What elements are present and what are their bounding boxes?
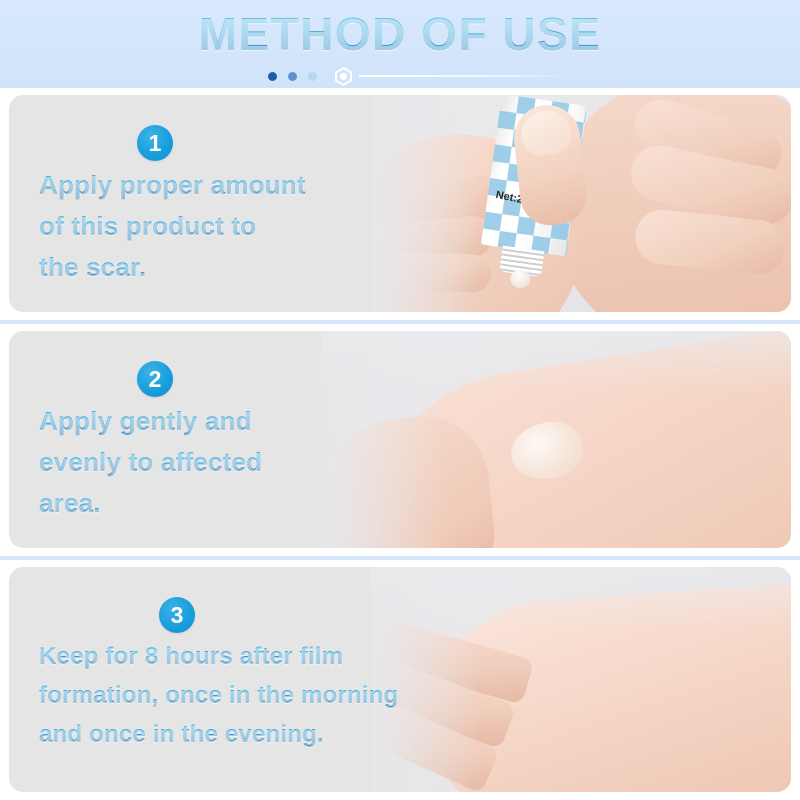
step-1-image: Net:20g	[371, 95, 791, 312]
step-3-text-block: 3 Keep for 8 hours after film formation,…	[39, 597, 398, 750]
step-3-line-3: and once in the evening.	[39, 719, 398, 750]
progress-dot-dark	[268, 72, 277, 81]
step-2-line-2: evenly to affected	[39, 446, 262, 479]
progress-dot-light	[308, 72, 317, 81]
step-card-1: Net:20g 1 Apply proper amount of this pr…	[0, 88, 800, 320]
step-card-2: 2 Apply gently and evenly to affected ar…	[0, 324, 800, 556]
hexagon-icon	[334, 67, 353, 86]
step-number-badge-2: 2	[137, 361, 173, 397]
divider-line	[359, 75, 568, 77]
progress-dot-medium	[288, 72, 297, 81]
page-header: METHOD OF USE	[0, 0, 800, 88]
step-2-image	[321, 331, 791, 548]
step-3-image	[371, 567, 791, 792]
page-title: METHOD OF USE	[0, 8, 800, 60]
step-2-text-block: 2 Apply gently and evenly to affected ar…	[39, 361, 262, 520]
step-panel-3: 3 Keep for 8 hours after film formation,…	[9, 567, 791, 792]
finger-shape	[380, 251, 491, 293]
step-1-line-2: of this product to	[39, 210, 306, 243]
step-panel-2: 2 Apply gently and evenly to affected ar…	[9, 331, 791, 548]
step-2-line-1: Apply gently and	[39, 405, 262, 438]
decorative-progress-row	[268, 68, 568, 84]
step-3-line-2: formation, once in the morning	[39, 680, 398, 711]
step-2-line-3: area.	[39, 487, 262, 520]
step-panel-1: Net:20g 1 Apply proper amount of this pr…	[9, 95, 791, 312]
step-1-line-1: Apply proper amount	[39, 169, 306, 202]
step-1-line-3: the scar.	[39, 251, 306, 284]
step-card-3: 3 Keep for 8 hours after film formation,…	[0, 560, 800, 800]
step-number-badge-1: 1	[137, 125, 173, 161]
step-1-text-block: 1 Apply proper amount of this product to…	[39, 125, 306, 284]
step-number-badge-3: 3	[159, 597, 195, 633]
step-3-line-1: Keep for 8 hours after film	[39, 641, 398, 672]
